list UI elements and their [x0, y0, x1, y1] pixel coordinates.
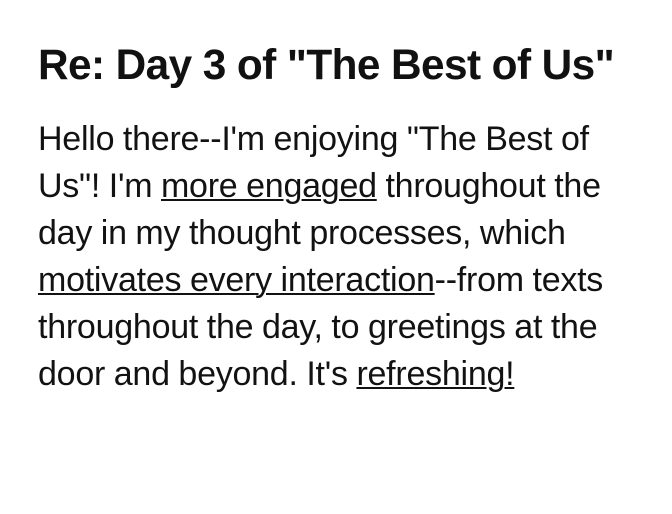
highlighted-phrase-motivates-every-interaction: motivates every interaction — [38, 261, 435, 300]
post-body-paragraph: Hello there--I'm enjoying "The Best of U… — [38, 88, 652, 398]
highlighted-phrase-refreshing: refreshing! — [356, 355, 514, 394]
page-root: Re: Day 3 of "The Best of Us" Hello ther… — [0, 0, 672, 514]
post-content: Re: Day 3 of "The Best of Us" Hello ther… — [38, 0, 654, 398]
page-title: Re: Day 3 of "The Best of Us" — [38, 0, 645, 88]
highlighted-phrase-more-engaged: more engaged — [161, 167, 377, 206]
